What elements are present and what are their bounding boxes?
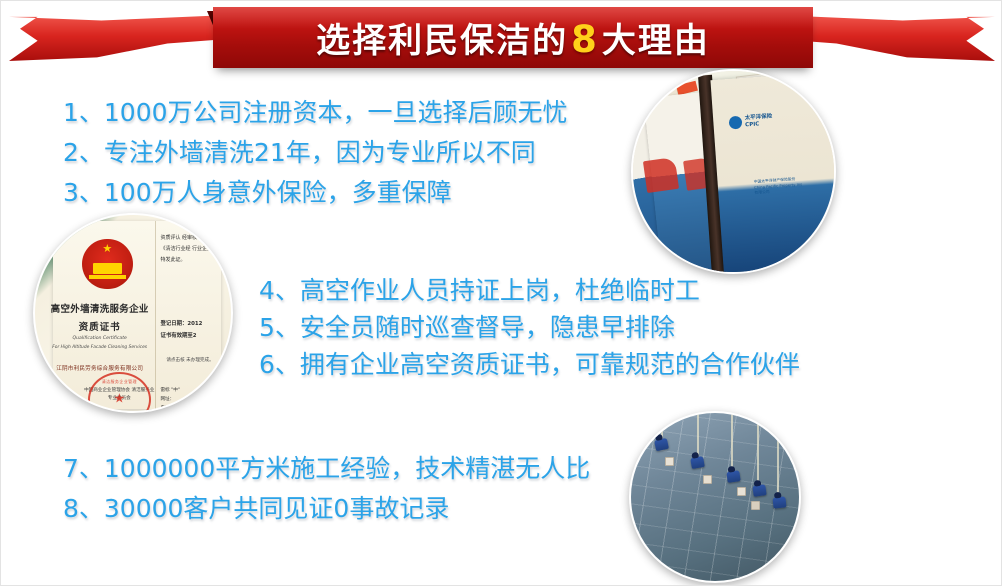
certificate-fold-line xyxy=(155,221,156,409)
certificate-brand-label: 雷标 "中" xyxy=(160,387,225,396)
certificate-dates: 登记日期：2012 证书有效期至2 xyxy=(160,319,225,343)
reason-item-1: 1、1000万公司注册资本，一旦选择后顾无忧 xyxy=(63,100,568,125)
cpic-logo-text: 太平洋保险 CPIC xyxy=(745,114,773,130)
cpic-brand-en: CPIC xyxy=(745,122,760,129)
insurance-ren-glyph-1 xyxy=(643,157,679,193)
banner-title-prefix: 选择利民保洁的 xyxy=(316,21,568,61)
reason-number-7: 7、 xyxy=(63,454,104,483)
reason-text-6: 拥有企业高空资质证书，可靠规范的合作伙伴 xyxy=(300,350,800,379)
worker-rope-2 xyxy=(697,413,699,457)
worker-2 xyxy=(690,456,705,469)
photo-facade-workers xyxy=(629,411,801,583)
certificate-title-line-1: 高空外墙清洗服务企业 xyxy=(51,301,149,315)
certificate-reg-date: 登记日期：2012 xyxy=(160,319,225,331)
reason-item-3: 3、100万人身意外保险，多重保障 xyxy=(63,180,452,205)
cpic-logo-mark xyxy=(729,116,743,130)
reason-number-4: 4、 xyxy=(259,276,300,305)
reason-text-4: 高空作业人员持证上岗，杜绝临时工 xyxy=(300,276,700,305)
emblem-star: ★ xyxy=(102,243,112,254)
certificate-contact-block: 雷标 "中" 网址： 电话 xyxy=(160,387,225,411)
worker-bucket-1 xyxy=(665,457,674,466)
certificate-site-label: 网址： xyxy=(160,396,225,405)
reason-text-3: 100万人身意外保险，多重保障 xyxy=(104,178,452,207)
reason-item-7: 7、1000000平方米施工经验，技术精湛无人比 xyxy=(63,456,590,481)
certificate-valid-until: 证书有效期至2 xyxy=(160,331,225,343)
banner-title-suffix: 大理由 xyxy=(602,21,710,61)
worker-rope-3 xyxy=(731,413,733,471)
certificate-english-line-2: For High Altitude Facade Cleaning Servic… xyxy=(51,345,149,350)
seal-top-text: 清洁服务企业管理 xyxy=(90,379,149,385)
photo-insurance-documents: 太平洋保险 CPIC 中国太平洋财产保险股份 China Pacific Pro… xyxy=(631,69,836,274)
national-emblem-icon: ★ xyxy=(82,239,133,290)
reason-number-8: 8、 xyxy=(63,494,104,523)
reason-item-8: 8、30000客户共同见证0事故记录 xyxy=(63,496,449,521)
reason-item-5: 5、安全员随时巡查督导，隐患早排除 xyxy=(259,315,675,340)
worker-4 xyxy=(752,484,766,497)
reason-number-1: 1、 xyxy=(63,98,104,127)
photo-certificate-inner: ★ 高空外墙清洗服务企业 资质证书 Qualification Certific… xyxy=(35,215,231,411)
worker-rope-5 xyxy=(777,413,779,497)
reason-item-6: 6、拥有企业高空资质证书，可靠规范的合作伙伴 xyxy=(259,352,800,377)
worker-3 xyxy=(726,470,740,483)
worker-rope-4 xyxy=(757,413,759,485)
reason-item-4: 4、高空作业人员持证上岗，杜绝临时工 xyxy=(259,278,700,303)
banner-title-highlight-number: 8 xyxy=(568,18,602,61)
certificate-tel-label: 电话 xyxy=(160,405,225,411)
certificate-right-column-text: 资质评认 经审核 服务施工条 《清洁行业经 行业企业资质 特发此证。 xyxy=(160,233,225,267)
reason-number-2: 2、 xyxy=(63,138,104,167)
certificate-english-line-1: Qualification Certificate xyxy=(51,336,149,341)
reason-item-2: 2、专注外墙清洗21年，因为专业所以不同 xyxy=(63,140,536,165)
reason-number-3: 3、 xyxy=(63,178,104,207)
reason-text-1: 1000万公司注册资本，一旦选择后顾无忧 xyxy=(104,98,568,127)
certificate-note: 请点击核 未办理完成。 xyxy=(166,356,227,365)
worker-bucket-4 xyxy=(751,501,760,510)
certificate-company-name: 江阴市利民劳务综合服务有限公司 xyxy=(47,364,153,372)
banner-plate: 选择利民保洁的8大理由 xyxy=(213,7,813,68)
reason-number-6: 6、 xyxy=(259,350,300,379)
seal-star: ★ xyxy=(113,393,125,406)
reason-text-7: 1000000平方米施工经验，技术精湛无人比 xyxy=(104,454,590,483)
ribbon-tail-left-strip xyxy=(9,15,229,61)
worker-1 xyxy=(654,438,669,451)
ribbon-tail-left xyxy=(9,15,229,61)
reason-text-8: 30000客户共同见证0事故记录 xyxy=(104,494,449,523)
emblem-base xyxy=(89,275,126,279)
worker-5 xyxy=(772,496,786,508)
photo-qualification-certificate: ★ 高空外墙清洗服务企业 资质证书 Qualification Certific… xyxy=(33,213,233,413)
ribbon-banner: 选择利民保洁的8大理由 xyxy=(1,1,1002,76)
emblem-gate xyxy=(93,263,122,274)
photo-insurance-inner: 太平洋保险 CPIC 中国太平洋财产保险股份 China Pacific Pro… xyxy=(633,71,834,272)
page-title: 选择利民保洁的8大理由 xyxy=(316,13,710,62)
certificate-title-line-2: 资质证书 xyxy=(51,319,149,333)
promo-poster: 选择利民保洁的8大理由 1、1000万公司注册资本，一旦选择后顾无忧 2、专注外… xyxy=(0,0,1002,586)
worker-bucket-3 xyxy=(737,487,746,496)
photo-workers-inner xyxy=(631,413,799,581)
reason-text-2: 专注外墙清洗21年，因为专业所以不同 xyxy=(104,138,536,167)
worker-bucket-2 xyxy=(703,475,712,484)
certificate-issuer-label: 发证机关 xyxy=(47,391,78,397)
reason-text-5: 安全员随时巡查督导，隐患早排除 xyxy=(300,313,675,342)
insurance-front-cover xyxy=(711,71,834,272)
reason-number-5: 5、 xyxy=(259,313,300,342)
